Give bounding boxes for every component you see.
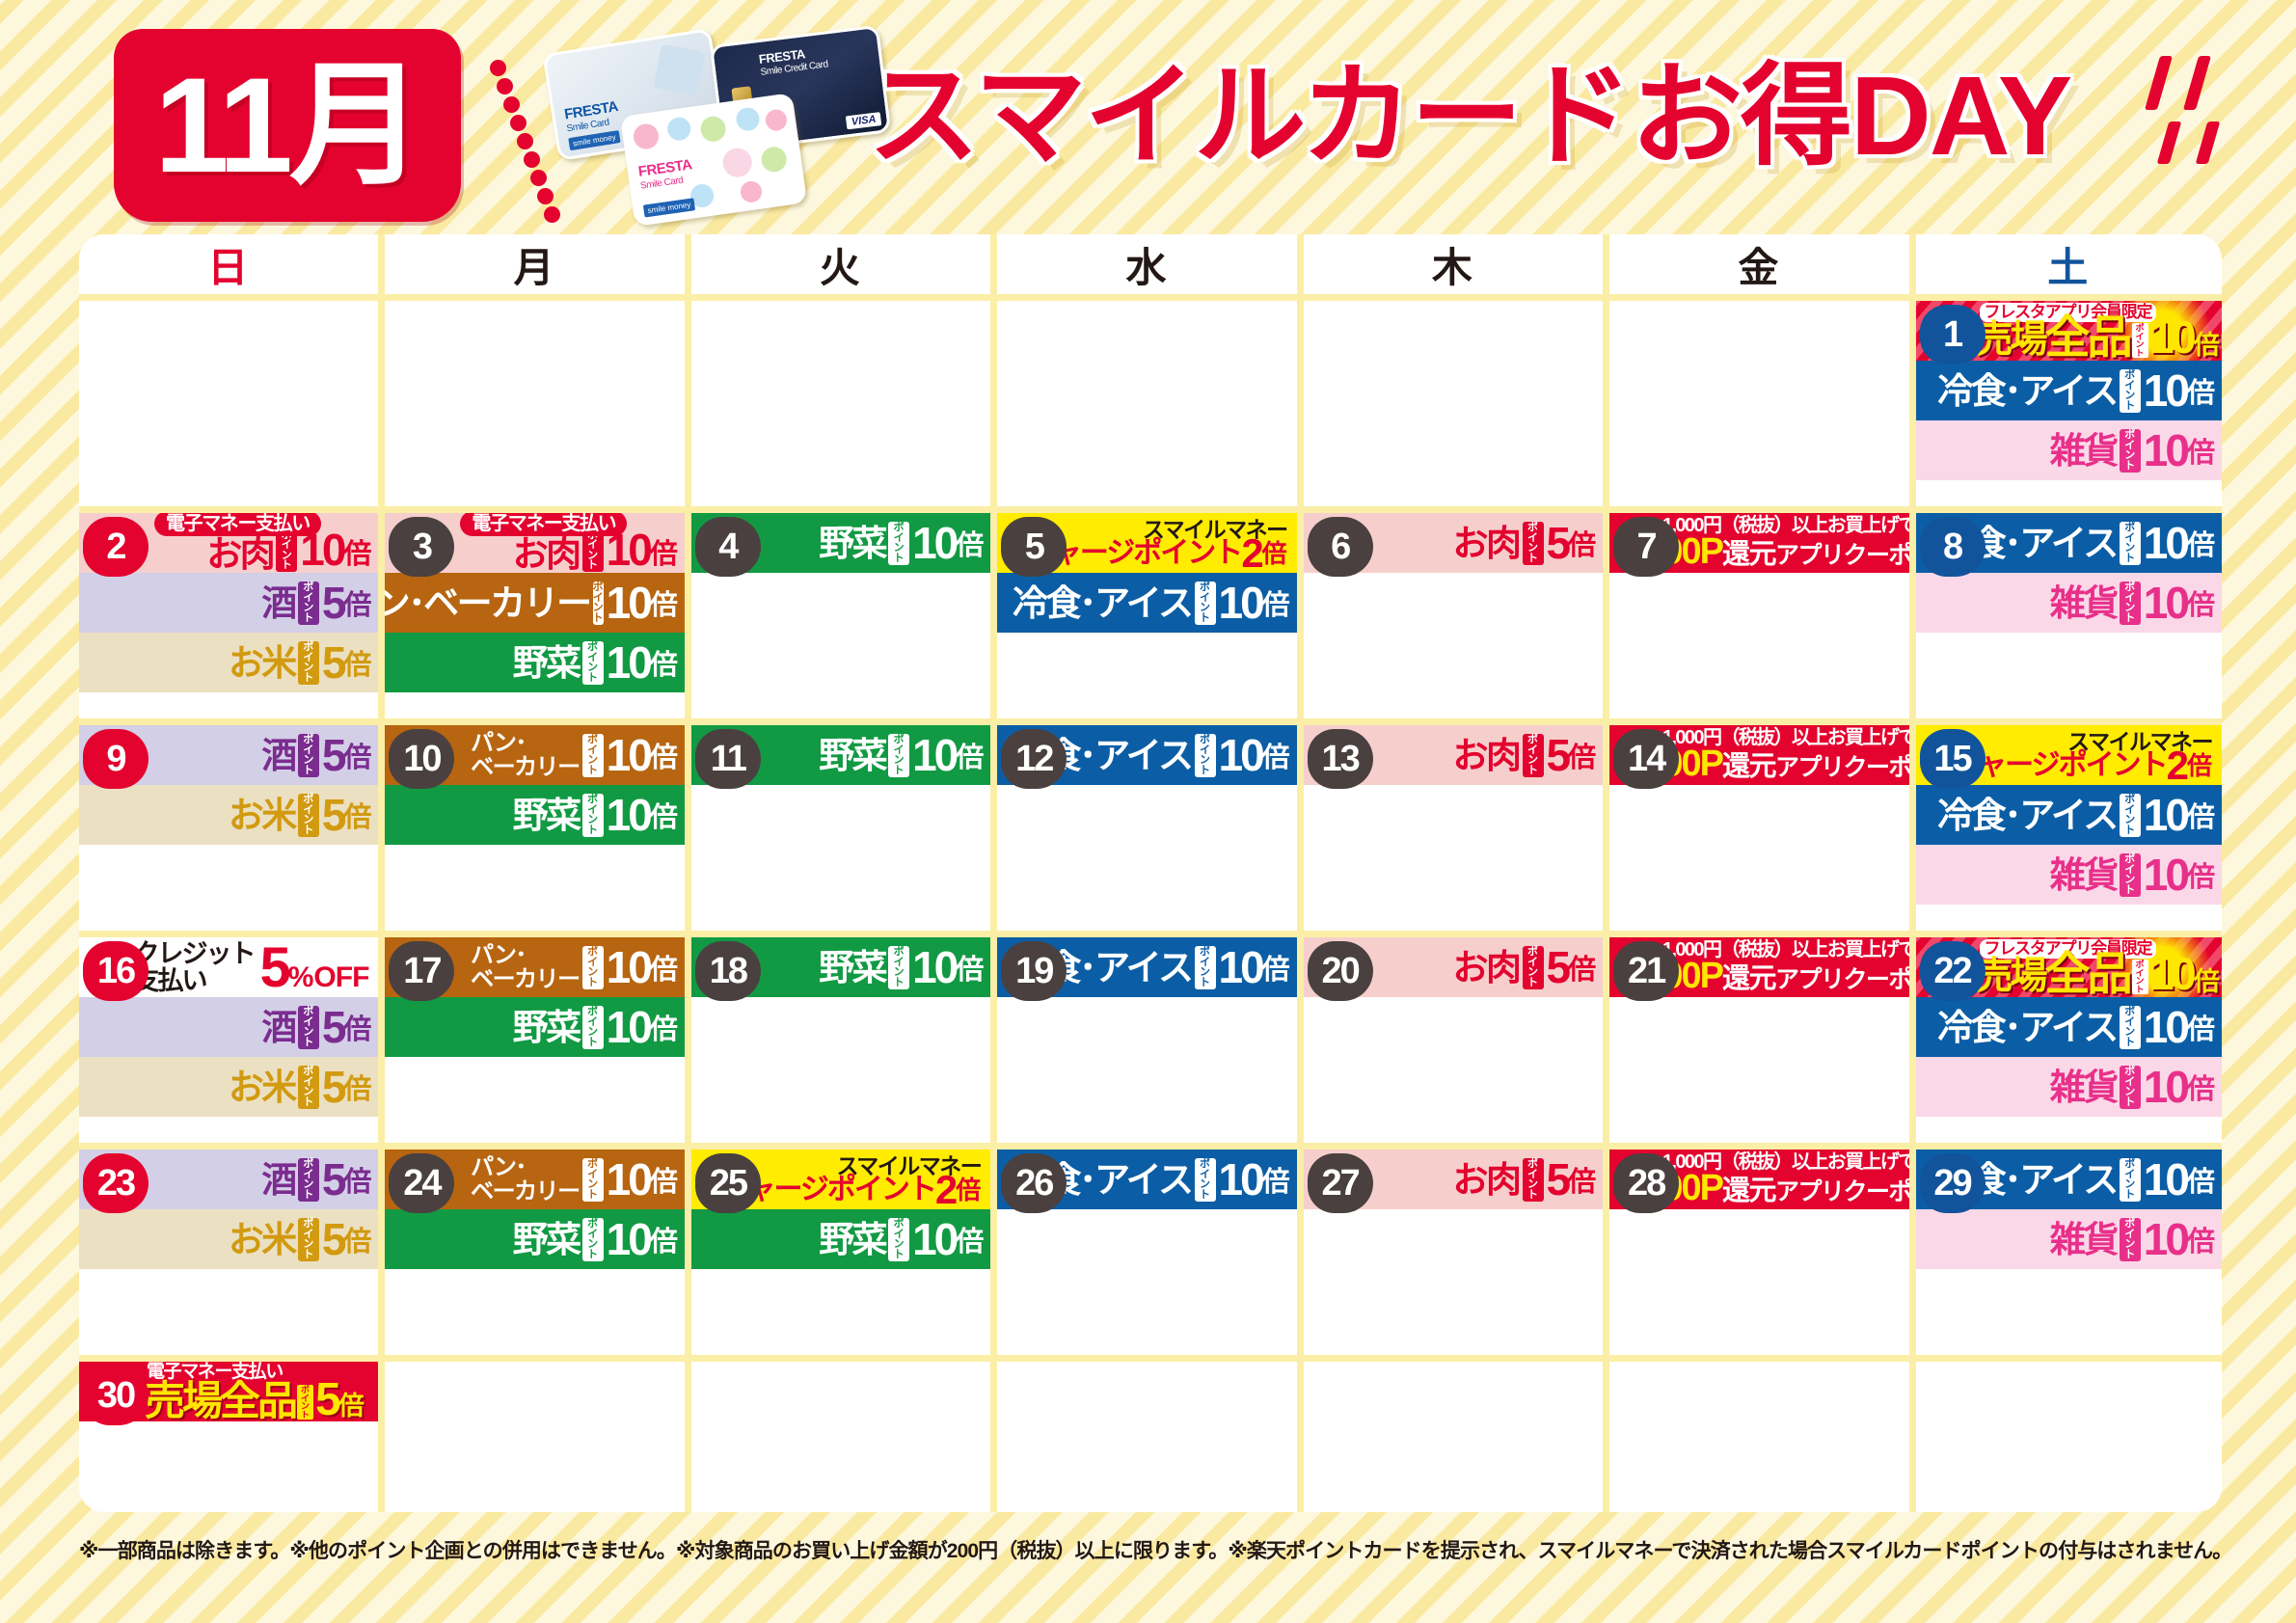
promo-bar[interactable]: 冷食･アイスポイント10倍 [1916, 997, 2222, 1057]
point-chip: ポイント [298, 734, 319, 777]
point-chip: ポイント [298, 794, 319, 837]
all-items-bai: 倍 [2194, 331, 2219, 360]
promo-bar[interactable]: お米ポイント5倍 [79, 1057, 378, 1117]
promo-bai: 倍 [2187, 854, 2214, 895]
coupon-app-label: アプリクーポン [1775, 540, 1909, 571]
promo-bar[interactable]: 雑貨ポイント10倍 [1916, 845, 2222, 905]
point-chip: ポイント [582, 1158, 604, 1202]
promo-bai: 倍 [650, 1159, 677, 1200]
promo-bai: 倍 [650, 642, 677, 683]
promo-bai: 倍 [343, 1007, 370, 1047]
promo-multiplier: 10 [1219, 733, 1262, 777]
poster-title-text: スマイルカードお得DAY [868, 60, 2070, 172]
calendar-day-25[interactable]: スマイルマネーチャージポイント2倍野菜ポイント10倍25 [691, 1150, 997, 1355]
point-chip: ポイント [1195, 1158, 1216, 1202]
calendar-day-empty [1304, 301, 1609, 506]
day-number: 11 [695, 729, 761, 789]
calendar-day-11[interactable]: 野菜ポイント10倍11 [691, 725, 997, 931]
promo-category: お肉 [1453, 950, 1520, 986]
point-chip: ポイント [2132, 960, 2148, 994]
zenpin-label: 全品 [2045, 952, 2130, 996]
calendar-day-20[interactable]: お肉ポイント5倍20 [1304, 937, 1609, 1143]
calendar-day-19[interactable]: 冷食･アイスポイント10倍19 [997, 937, 1303, 1143]
weekday-header-1: 月 [385, 234, 690, 294]
point-chip: ポイント [582, 1006, 604, 1049]
promo-bai: 倍 [650, 582, 677, 623]
promo-bai: 倍 [1568, 523, 1595, 563]
promo-multiplier: 10 [912, 521, 956, 565]
promo-multiplier: 5 [322, 1005, 344, 1049]
promo-bar[interactable]: 雑貨ポイント10倍 [1916, 1057, 2222, 1117]
emoney-badge: 電子マネー支払い [154, 513, 321, 536]
point-chip: ポイント [2120, 1006, 2141, 1049]
day-number: 6 [1308, 517, 1373, 577]
calendar-day-18[interactable]: 野菜ポイント10倍18 [691, 937, 997, 1143]
promo-multiplier: 10 [2144, 1005, 2187, 1049]
point-chip: ポイント [888, 1218, 909, 1261]
calendar-day-empty [1609, 1362, 1915, 1512]
poster-title: スマイルカードお得DAY [868, 50, 2237, 180]
calendar-day-7[interactable]: 1,000円（税抜）以上お買上げで100P還元アプリクーポン7 [1609, 513, 1915, 718]
point-chip: ポイント [2120, 429, 2141, 473]
charge-multiplier: 2 [1241, 540, 1261, 567]
promo-category: パン･ベーカリー [385, 585, 589, 621]
promo-bar[interactable]: 野菜ポイント10倍 [385, 997, 684, 1057]
credit-payment-label: クレジット支払い [133, 940, 254, 994]
footer-disclaimer: ※一部商品は除きます。※他のポイント企画との併用はできません。※対象商品のお買い… [79, 1535, 2222, 1564]
promo-category: パン･ベーカリー [471, 1155, 580, 1204]
promo-category: 酒 [261, 738, 295, 773]
promo-bai: 倍 [650, 735, 677, 775]
promo-bai: 倍 [1262, 1159, 1289, 1200]
promo-category-line1: パン･ [471, 1155, 526, 1179]
promo-category: お米 [229, 645, 295, 681]
promo-bai: 倍 [343, 582, 370, 623]
promo-multiplier: 10 [607, 945, 650, 989]
promo-bai: 倍 [2187, 1007, 2214, 1047]
calendar-day-5[interactable]: スマイルマネーチャージポイント2倍冷食･アイスポイント10倍5 [997, 513, 1303, 718]
point-chip: ポイント [298, 1218, 319, 1261]
promo-bar[interactable]: 野菜ポイント10倍 [691, 1209, 990, 1269]
day-number: 7 [1613, 517, 1679, 577]
promo-multiplier: 10 [1219, 581, 1262, 625]
promo-category: 野菜 [513, 645, 580, 681]
promo-multiplier: 10 [2144, 521, 2187, 565]
promo-bai: 倍 [2187, 795, 2214, 835]
emoney-badge: 電子マネー支払い [460, 513, 627, 536]
calendar-day-empty [691, 301, 997, 506]
promo-multiplier: 5 [1547, 733, 1569, 777]
calendar-day-22[interactable]: フレスタアプリ会員限定売場全品ポイント10倍冷食･アイスポイント10倍雑貨ポイン… [1916, 937, 2222, 1143]
promo-bai: 倍 [956, 1219, 983, 1259]
promo-multiplier: 10 [607, 1005, 650, 1049]
calendar-day-2[interactable]: 電子マネー支払いお肉ポイント10倍酒ポイント5倍お米ポイント5倍2 [79, 513, 385, 718]
day-number: 2 [83, 517, 149, 577]
promo-bar[interactable]: 冷食･アイスポイント10倍 [1916, 361, 2222, 420]
calendar-day-12[interactable]: 冷食･アイスポイント10倍12 [997, 725, 1303, 931]
dot [544, 206, 560, 223]
calendar-grid: 日月火水木金土 フレスタアプリ会員限定売場全品ポイント10倍冷食･アイスポイント… [79, 234, 2222, 1512]
promo-multiplier: 10 [912, 945, 956, 989]
credit-off-label: OFF [313, 961, 368, 994]
all-items-multiplier: 5 [315, 1379, 338, 1421]
coupon-kangen: 還元 [1722, 751, 1775, 782]
coupon-app-label: アプリクーポン [1775, 1177, 1909, 1207]
weekday-header-0: 日 [79, 234, 385, 294]
smile-money-chip: smile money [643, 198, 695, 217]
coupon-reward-line: 100P還元アプリクーポン [1644, 1173, 1908, 1207]
point-chip: ポイント [2120, 1218, 2141, 1261]
calendar-day-empty [1916, 1362, 2222, 1512]
promo-bai: 倍 [956, 735, 983, 775]
day-number: 20 [1308, 941, 1373, 1001]
promo-category: 雑貨 [2050, 857, 2117, 893]
dot-decoration [760, 146, 788, 174]
credit-discount: 5%OFF [259, 937, 368, 997]
dot-decoration [632, 122, 660, 150]
calendar-week-row: 酒ポイント5倍お米ポイント5倍23パン･ベーカリーポイント10倍野菜ポイント10… [79, 1143, 2222, 1355]
promo-category: お肉 [1453, 1162, 1520, 1198]
promo-category: 雑貨 [2050, 1222, 2117, 1258]
promo-multiplier: 5 [322, 581, 344, 625]
promo-category: 野菜 [513, 798, 580, 833]
promo-category: 冷食･アイス [1937, 373, 2117, 409]
point-chip: ポイント [298, 641, 319, 685]
smile-money-chip: smile money [568, 130, 620, 150]
promo-bai: 倍 [1262, 582, 1289, 623]
calendar-day-13[interactable]: お肉ポイント5倍13 [1304, 725, 1609, 931]
dot [510, 115, 527, 131]
promo-category: 酒 [261, 585, 295, 621]
promo-multiplier: 10 [1219, 1157, 1262, 1202]
promo-multiplier: 10 [2144, 368, 2187, 413]
promo-multiplier: 10 [912, 1217, 956, 1261]
promo-bar[interactable]: 酒ポイント5倍 [79, 573, 378, 633]
point-chip: ポイント [888, 734, 909, 777]
promo-multiplier: 10 [607, 733, 650, 777]
calendar-day-empty [385, 301, 690, 506]
promo-bai: 倍 [650, 795, 677, 835]
point-chip: ポイント [297, 1385, 313, 1420]
weekday-header-4: 木 [1304, 234, 1609, 294]
day-number: 17 [389, 941, 454, 1001]
dot-decoration [721, 147, 754, 179]
point-chip: ポイント [298, 1066, 319, 1109]
day-number: 15 [1920, 729, 1985, 789]
promo-bar[interactable]: 雑貨ポイント10倍 [1916, 420, 2222, 480]
promo-category: お肉 [206, 536, 273, 572]
day-number: 4 [695, 517, 761, 577]
charge-bai: 倍 [2187, 752, 2212, 779]
calendar-day-17[interactable]: パン･ベーカリーポイント10倍野菜ポイント10倍17 [385, 937, 690, 1143]
promo-bai: 倍 [343, 1067, 370, 1107]
dot-decoration [765, 108, 789, 132]
calendar-week-row: 電子マネー支払いお肉ポイント10倍酒ポイント5倍お米ポイント5倍2電子マネー支払… [79, 506, 2222, 718]
point-chip: ポイント [2120, 369, 2141, 413]
promo-multiplier: 5 [1547, 945, 1569, 989]
day-number: 30 [83, 1366, 149, 1425]
promo-category-line2: ベーカリー [471, 755, 580, 779]
point-chip: ポイント [582, 641, 604, 685]
calendar-day-24[interactable]: パン･ベーカリーポイント10倍野菜ポイント10倍24 [385, 1150, 690, 1355]
promo-category: 冷食･アイス [1937, 1010, 2117, 1045]
promo-category: 冷食･アイス [1937, 798, 2117, 833]
promo-multiplier: 5 [322, 1065, 344, 1109]
promo-multiplier: 10 [2144, 581, 2187, 625]
calendar-day-28[interactable]: 1,000円（税抜）以上お買上げで100P還元アプリクーポン28 [1609, 1150, 1915, 1355]
point-chip: ポイント [2120, 853, 2141, 897]
point-chip: ポイント [2120, 522, 2141, 565]
promo-bai: 倍 [650, 947, 677, 987]
promo-category-line1: パン･ [471, 731, 526, 755]
promo-category: 野菜 [819, 1222, 885, 1258]
promo-bai: 倍 [343, 642, 370, 683]
calendar-day-6[interactable]: お肉ポイント5倍6 [1304, 513, 1609, 718]
calendar-day-4[interactable]: 野菜ポイント10倍4 [691, 513, 997, 718]
dot-decoration [735, 106, 761, 132]
point-chip: ポイント [2132, 323, 2148, 358]
promo-multiplier: 10 [1219, 945, 1262, 989]
weekday-label: 水 [1125, 235, 1168, 294]
credit-discount-value: 5 [259, 937, 287, 997]
coupon-kangen: 還元 [1722, 963, 1775, 994]
promo-bar[interactable]: 酒ポイント5倍 [79, 997, 378, 1057]
promo-bai: 倍 [2187, 1219, 2214, 1259]
point-chip: ポイント [2120, 1158, 2141, 1202]
promo-bai: 倍 [956, 947, 983, 987]
calendar-day-30[interactable]: 電子マネー支払い売場全品ポイント5倍30 [79, 1362, 385, 1512]
calendar-day-9[interactable]: 酒ポイント5倍お米ポイント5倍9 [79, 725, 385, 931]
promo-multiplier: 10 [2144, 1065, 2187, 1109]
promo-bar[interactable]: 野菜ポイント10倍 [385, 633, 684, 692]
calendar-day-empty [691, 1362, 997, 1512]
promo-multiplier: 10 [912, 733, 956, 777]
month-label: 11月 [154, 58, 420, 193]
promo-category: 雑貨 [2050, 585, 2117, 621]
calendar-day-27[interactable]: お肉ポイント5倍27 [1304, 1150, 1609, 1355]
promo-category: 野菜 [819, 950, 885, 986]
point-chip: ポイント [888, 522, 909, 565]
poster-header: 11月 FRESTA Smile Card smile money FRESTA… [0, 0, 2296, 230]
all-items-bai: 倍 [338, 1391, 364, 1421]
promo-category: 野菜 [513, 1222, 580, 1258]
promo-multiplier: 5 [1547, 521, 1569, 565]
coupon-reward-line: 100P還元アプリクーポン [1644, 960, 1908, 995]
day-number: 9 [83, 729, 149, 789]
dot [524, 151, 540, 168]
disclaimer-text: ※一部商品は除きます。※他のポイント企画との併用はできません。※対象商品のお買い… [79, 1535, 2222, 1564]
point-chip: ポイント [1195, 946, 1216, 989]
weekday-header-3: 水 [997, 234, 1303, 294]
promo-bar[interactable]: 雑貨ポイント10倍 [1916, 573, 2222, 633]
day-number: 3 [389, 517, 454, 577]
point-chip: ポイント [2120, 582, 2141, 625]
calendar-day-empty [1609, 301, 1915, 506]
promo-multiplier: 10 [2144, 428, 2187, 473]
promo-bai: 倍 [343, 1219, 370, 1259]
weekday-label: 日 [207, 235, 250, 294]
promo-bai: 倍 [2187, 523, 2214, 563]
day-number: 1 [1920, 305, 1985, 365]
promo-category: 野菜 [819, 526, 885, 561]
dot-decoration [666, 116, 692, 142]
charge-bai: 倍 [1262, 540, 1287, 567]
day-number: 13 [1308, 729, 1373, 789]
promo-category: 雑貨 [2050, 433, 2117, 469]
calendar-week-row: 酒ポイント5倍お米ポイント5倍9パン･ベーカリーポイント10倍野菜ポイント10倍… [79, 718, 2222, 931]
promo-bai: 倍 [650, 531, 677, 572]
promo-bar[interactable]: 冷食･アイスポイント10倍 [997, 573, 1296, 633]
calendar-day-14[interactable]: 1,000円（税抜）以上お買上げで100P還元アプリクーポン14 [1609, 725, 1915, 931]
promo-bai: 倍 [2187, 1159, 2214, 1200]
promo-bar[interactable]: お米ポイント5倍 [79, 1209, 378, 1269]
calendar-day-15[interactable]: スマイルマネーチャージポイント2倍冷食･アイスポイント10倍雑貨ポイント10倍1… [1916, 725, 2222, 931]
point-chip: ポイント [1523, 522, 1544, 565]
weekday-label: 木 [1432, 235, 1474, 294]
calendar-day-empty [385, 1362, 690, 1512]
coupon-app-label: アプリクーポン [1775, 752, 1909, 783]
month-badge: 11月 [114, 29, 461, 222]
day-number: 25 [695, 1153, 761, 1213]
day-number: 21 [1613, 941, 1679, 1001]
promo-bai: 倍 [1568, 735, 1595, 775]
day-number: 14 [1613, 729, 1679, 789]
promo-category: お肉 [1453, 738, 1520, 773]
promo-multiplier: 10 [607, 640, 650, 685]
day-number: 16 [83, 941, 149, 1001]
promo-bai: 倍 [2187, 370, 2214, 411]
uriba-label: 売場 [1976, 321, 2045, 360]
point-chip: ポイント [582, 1218, 604, 1261]
promo-bai: 倍 [2187, 582, 2214, 623]
weekday-header-2: 火 [691, 234, 997, 294]
day-number: 5 [1001, 517, 1067, 577]
promo-category-line2: ベーカリー [471, 1179, 580, 1204]
calendar-weeks: フレスタアプリ会員限定売場全品ポイント10倍冷食･アイスポイント10倍雑貨ポイン… [79, 294, 2222, 1512]
promo-multiplier: 10 [607, 581, 650, 625]
coupon-app-label: アプリクーポン [1775, 964, 1909, 995]
promo-bai: 倍 [2187, 1067, 2214, 1107]
calendar-day-21[interactable]: 1,000円（税抜）以上お買上げで100P還元アプリクーポン21 [1609, 937, 1915, 1143]
weekday-label: 金 [1738, 235, 1780, 294]
promo-category: お米 [229, 1069, 295, 1105]
day-number: 10 [389, 729, 454, 789]
calendar-day-10[interactable]: パン･ベーカリーポイント10倍野菜ポイント10倍10 [385, 725, 690, 931]
promo-bar[interactable]: お米ポイント5倍 [79, 785, 378, 845]
promo-category: パン･ベーカリー [471, 943, 580, 991]
promo-category: 酒 [261, 1010, 295, 1045]
promo-multiplier: 5 [322, 640, 344, 685]
day-number: 22 [1920, 941, 1985, 1001]
promo-multiplier: 5 [322, 1217, 344, 1261]
charge-point-line: チャージポイント2倍 [1951, 752, 2211, 779]
promo-bar[interactable]: 冷食･アイスポイント10倍 [1916, 785, 2222, 845]
day-number: 27 [1308, 1153, 1373, 1213]
coupon-kangen: 還元 [1722, 1176, 1775, 1206]
point-chip: ポイント [1195, 734, 1216, 777]
calendar-day-16[interactable]: クレジット支払い5%OFF酒ポイント5倍お米ポイント5倍16 [79, 937, 385, 1143]
all-items-multiplier: 10 [2149, 315, 2194, 360]
promo-multiplier: 10 [607, 1157, 650, 1202]
promo-category: お米 [229, 1222, 295, 1258]
point-chip: ポイント [582, 946, 604, 989]
promo-category: 野菜 [819, 738, 885, 773]
zenpin-label: 全品 [2045, 315, 2130, 360]
promo-bar[interactable]: 野菜ポイント10倍 [385, 785, 684, 845]
calendar-day-29[interactable]: 冷食･アイスポイント10倍雑貨ポイント10倍29 [1916, 1150, 2222, 1355]
calendar-day-8[interactable]: 冷食･アイスポイント10倍雑貨ポイント10倍8 [1916, 513, 2222, 718]
calendar-day-empty [997, 301, 1303, 506]
promo-bar[interactable]: お米ポイント5倍 [79, 633, 378, 692]
uriba-label: 売場 [1976, 958, 2045, 996]
promo-bai: 倍 [956, 523, 983, 563]
promo-category: パン･ベーカリー [471, 731, 580, 779]
point-chip: ポイント [298, 582, 319, 625]
day-number: 12 [1001, 729, 1067, 789]
all-items-line: 売場全品ポイント10倍 [1976, 315, 2219, 360]
promo-category-line2: ベーカリー [471, 967, 580, 991]
weekday-label: 土 [2047, 235, 2090, 294]
coupon-reward-line: 100P還元アプリクーポン [1644, 536, 1908, 571]
calendar-day-1[interactable]: フレスタアプリ会員限定売場全品ポイント10倍冷食･アイスポイント10倍雑貨ポイン… [1916, 301, 2222, 506]
promo-bar[interactable]: 野菜ポイント10倍 [385, 1209, 684, 1269]
day-number: 18 [695, 941, 761, 1001]
calendar-day-empty [1304, 1362, 1609, 1512]
all-items-bai: 倍 [2194, 967, 2219, 996]
point-chip: ポイント [888, 946, 909, 989]
dot [537, 188, 554, 204]
promo-multiplier: 10 [2144, 1157, 2187, 1202]
calendar-day-3[interactable]: 電子マネー支払いお肉ポイント10倍パン･ベーカリーポイント10倍野菜ポイント10… [385, 513, 690, 718]
promo-multiplier: 10 [607, 793, 650, 837]
point-chip: ポイント [1523, 946, 1544, 989]
credit-percent-sign: % [288, 961, 314, 994]
promo-bai: 倍 [343, 1159, 370, 1200]
all-items-line: 売場全品ポイント10倍 [1976, 952, 2219, 996]
calendar-week-row: フレスタアプリ会員限定売場全品ポイント10倍冷食･アイスポイント10倍雑貨ポイン… [79, 294, 2222, 506]
promo-multiplier: 5 [1547, 1157, 1569, 1202]
promo-category: お肉 [1453, 526, 1520, 561]
promo-bar[interactable]: パン･ベーカリーポイント10倍 [385, 573, 684, 633]
promo-category-line1: パン･ [471, 943, 526, 967]
promo-multiplier: 5 [322, 733, 344, 777]
dot [503, 96, 520, 113]
day-number: 8 [1920, 517, 1985, 577]
day-number: 26 [1001, 1153, 1067, 1213]
promo-bai: 倍 [1568, 1159, 1595, 1200]
point-chip: ポイント [2120, 1066, 2141, 1109]
point-chip: ポイント [298, 1006, 319, 1049]
calendar-day-empty [79, 301, 385, 506]
promo-bar[interactable]: 雑貨ポイント10倍 [1916, 1209, 2222, 1269]
point-chip: ポイント [593, 582, 604, 625]
promo-bai: 倍 [650, 1219, 677, 1259]
promo-category: 雑貨 [2050, 1069, 2117, 1105]
day-number: 19 [1001, 941, 1067, 1001]
point-chip: ポイント [298, 1158, 319, 1202]
day-number: 24 [389, 1153, 454, 1213]
promo-multiplier: 10 [2144, 793, 2187, 837]
coupon-kangen: 還元 [1722, 539, 1775, 570]
calendar-day-23[interactable]: 酒ポイント5倍お米ポイント5倍23 [79, 1150, 385, 1355]
promo-category: 酒 [261, 1162, 295, 1198]
day-number: 28 [1613, 1153, 1679, 1213]
calendar-day-26[interactable]: 冷食･アイスポイント10倍26 [997, 1150, 1303, 1355]
promo-multiplier: 10 [2144, 1217, 2187, 1261]
dot-decoration [699, 115, 727, 143]
all-items-multiplier: 10 [2149, 952, 2194, 996]
point-chip: ポイント [1195, 582, 1216, 625]
